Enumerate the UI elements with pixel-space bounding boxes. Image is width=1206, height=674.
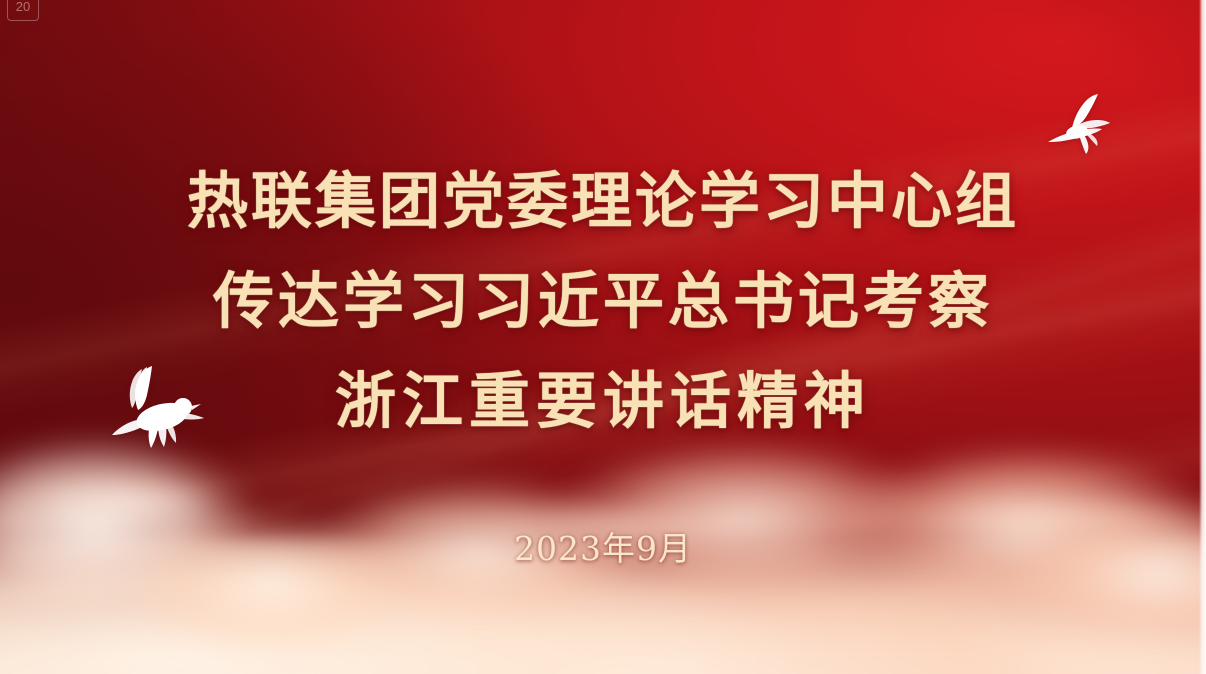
presentation-slide: 热联集团党委理论学习中心组 传达学习习近平总书记考察 浙江重要讲话精神 2023… (0, 0, 1206, 674)
slide-title-block: 热联集团党委理论学习中心组 传达学习习近平总书记考察 浙江重要讲话精神 (0, 152, 1206, 452)
corner-badge-label: 20 (16, 0, 30, 13)
slide-title-line-3: 浙江重要讲话精神 (0, 352, 1206, 452)
corner-badge[interactable]: 20 (7, 0, 39, 21)
slide-right-edge-border (1199, 0, 1206, 674)
slide-date: 2023年9月 (0, 522, 1206, 570)
slide-title-line-1: 热联集团党委理论学习中心组 (0, 152, 1206, 252)
slide-title-line-2: 传达学习习近平总书记考察 (0, 252, 1206, 352)
